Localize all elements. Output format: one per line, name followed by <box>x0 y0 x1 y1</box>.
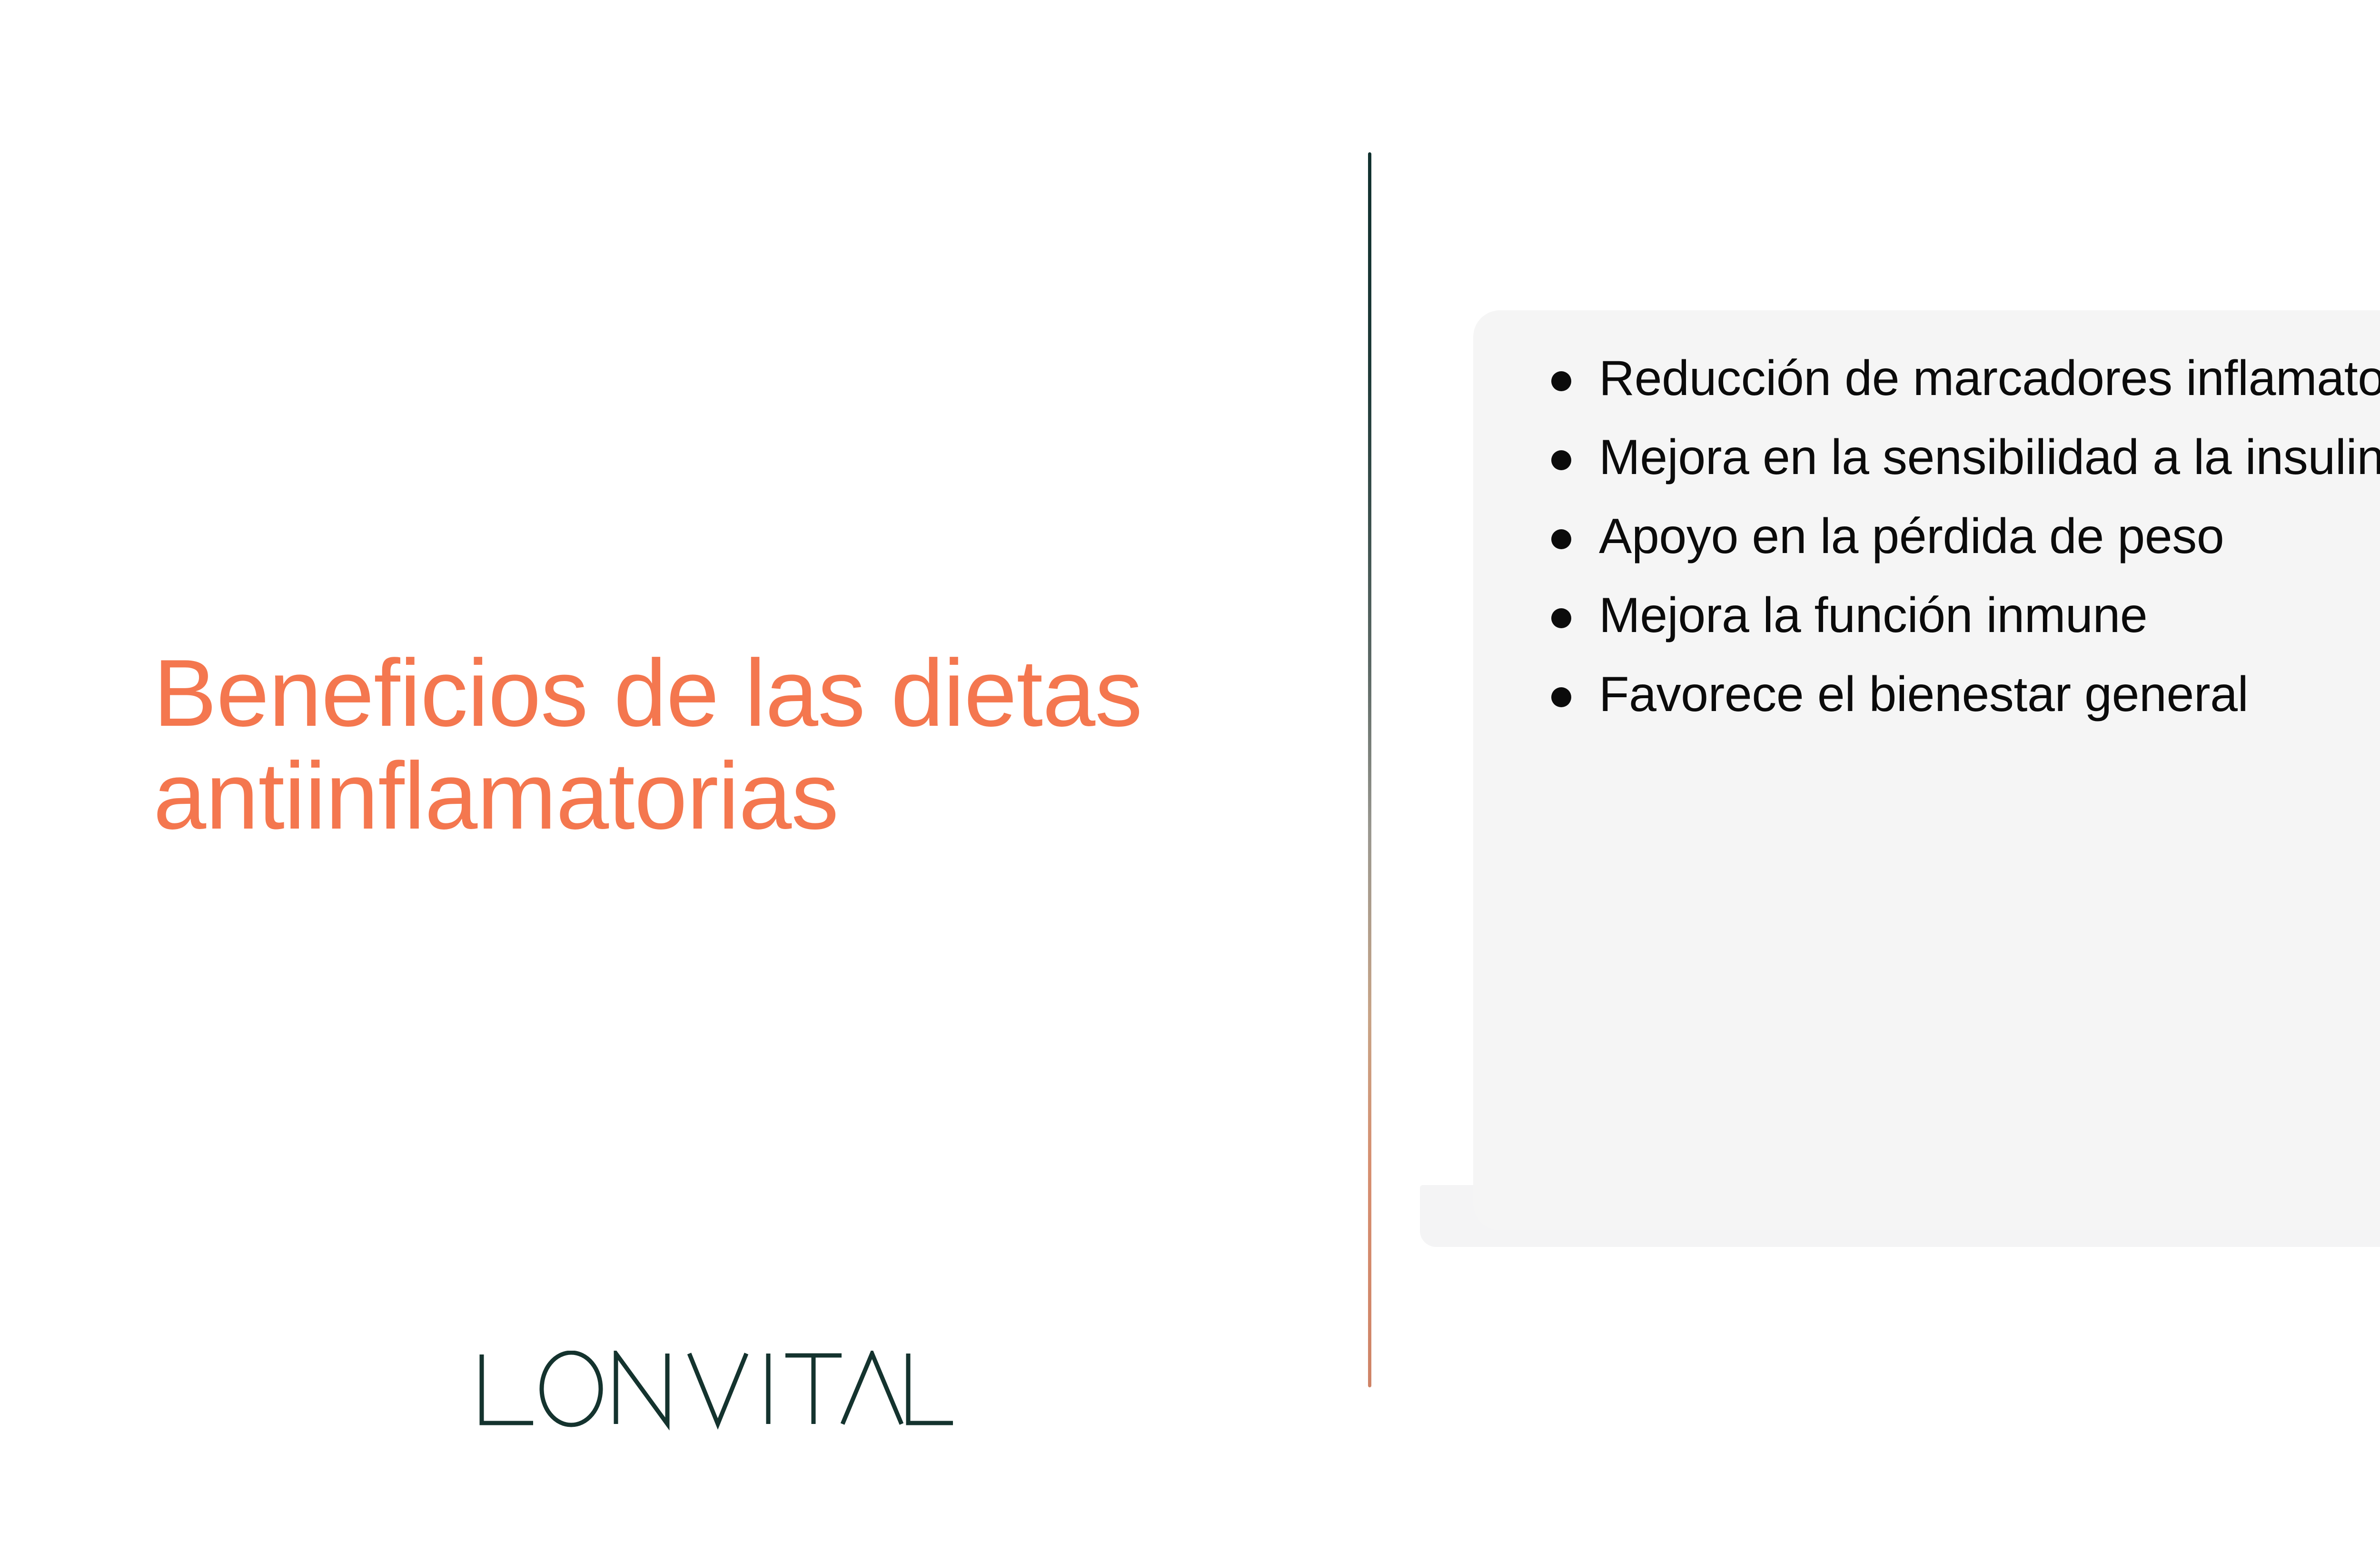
left-column: Beneficios de las dietas antiinflamatori… <box>0 0 1368 1542</box>
list-item-label: Apoyo en la pérdida de peso <box>1599 499 2380 574</box>
bullet-dot-icon <box>1551 529 1571 549</box>
bullet-dot-icon <box>1551 687 1571 707</box>
list-item-label: Mejora la función inmune <box>1599 578 2380 653</box>
brand-logo: LONVITAL <box>477 1351 958 1432</box>
bullet-dot-icon <box>1551 450 1571 470</box>
list-item: Apoyo en la pérdida de peso <box>1551 499 2380 574</box>
list-item: Mejora en la sensibilidad a la insulina <box>1551 420 2380 495</box>
list-item: Favorece el bienestar general <box>1551 657 2380 732</box>
page-title: Beneficios de las dietas antiinflamatori… <box>153 642 1262 848</box>
right-column: Reducción de marcadores inflamatorios Me… <box>1368 0 2380 1542</box>
benefits-card: Reducción de marcadores inflamatorios Me… <box>1473 310 2380 1230</box>
list-item-label: Reducción de marcadores inflamatorios <box>1599 341 2380 416</box>
bullet-dot-icon <box>1551 371 1571 391</box>
list-item-label: Mejora en la sensibilidad a la insulina <box>1599 420 2380 495</box>
slide-root: Beneficios de las dietas antiinflamatori… <box>0 0 2380 1542</box>
benefits-list: Reducción de marcadores inflamatorios Me… <box>1551 341 2380 736</box>
list-item: Reducción de marcadores inflamatorios <box>1551 341 2380 416</box>
list-item-label: Favorece el bienestar general <box>1599 657 2380 732</box>
list-item: Mejora la función inmune <box>1551 578 2380 653</box>
bullet-dot-icon <box>1551 608 1571 628</box>
